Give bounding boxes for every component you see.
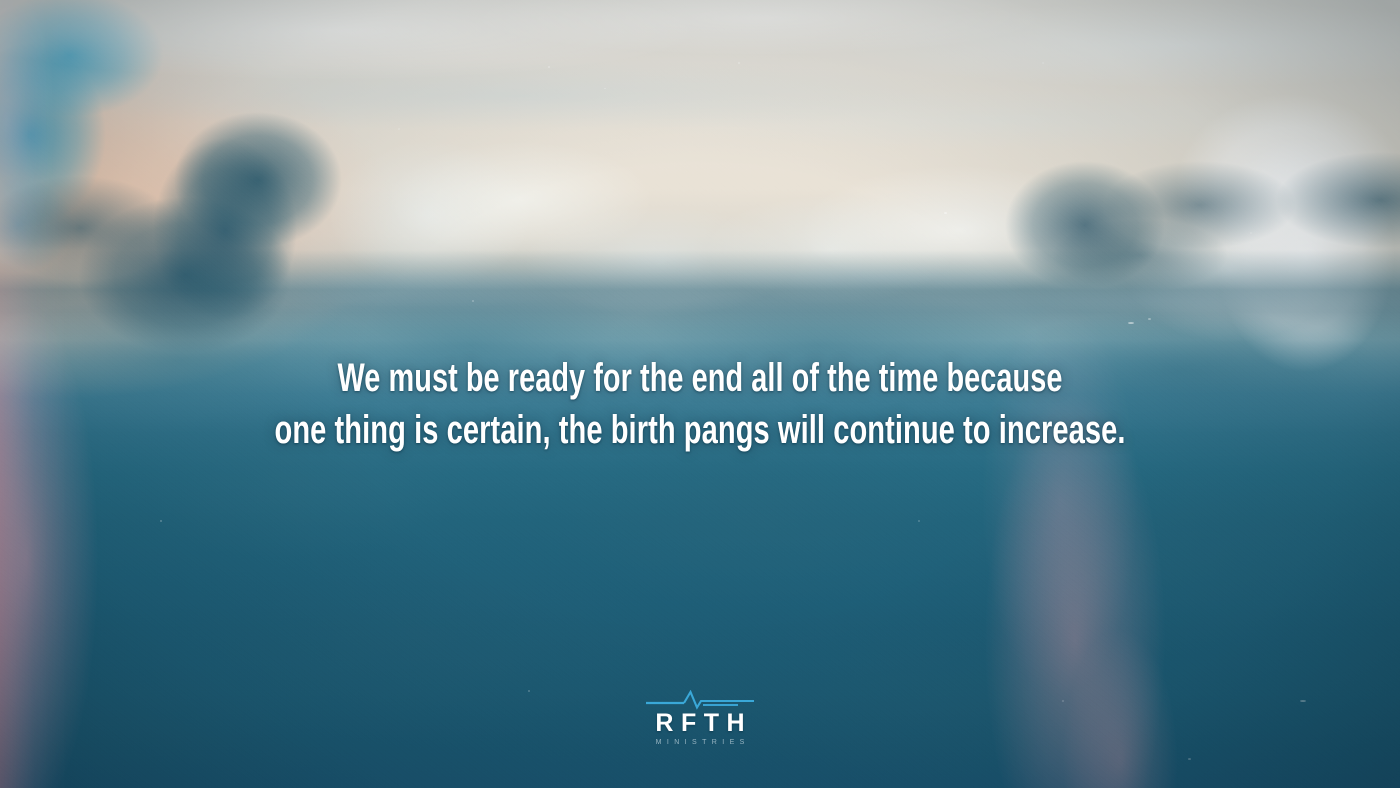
quote-graphic-canvas: We must be ready for the end all of the … (0, 0, 1400, 788)
dust-speck (1286, 170, 1288, 172)
dust-speck (604, 88, 606, 89)
quote-text: We must be ready for the end all of the … (140, 352, 1260, 456)
dust-speck (1300, 700, 1306, 702)
logo-tagline: MINISTRIES (630, 739, 770, 747)
dust-speck (918, 520, 920, 522)
dust-speck (1128, 322, 1134, 324)
dust-speck (472, 300, 474, 302)
dust-speck (548, 66, 550, 68)
dust-speck (1250, 232, 1252, 234)
dust-speck (944, 212, 947, 214)
dust-speck (1062, 700, 1064, 702)
dust-speck (398, 128, 400, 130)
dust-speck (1042, 62, 1044, 64)
heartbeat-pulse-icon (646, 690, 754, 710)
dust-speck (160, 520, 162, 522)
rfth-ministries-logo: RFTH MINISTRIES (630, 690, 770, 747)
quote-line-1: We must be ready for the end all of the … (195, 352, 1205, 404)
quote-line-2: one thing is certain, the birth pangs wi… (191, 404, 1208, 456)
dust-speck (1188, 758, 1191, 760)
dust-speck (528, 690, 530, 692)
dust-speck (738, 62, 740, 64)
dust-speck (1148, 318, 1151, 320)
logo-wordmark: RFTH (630, 711, 770, 735)
